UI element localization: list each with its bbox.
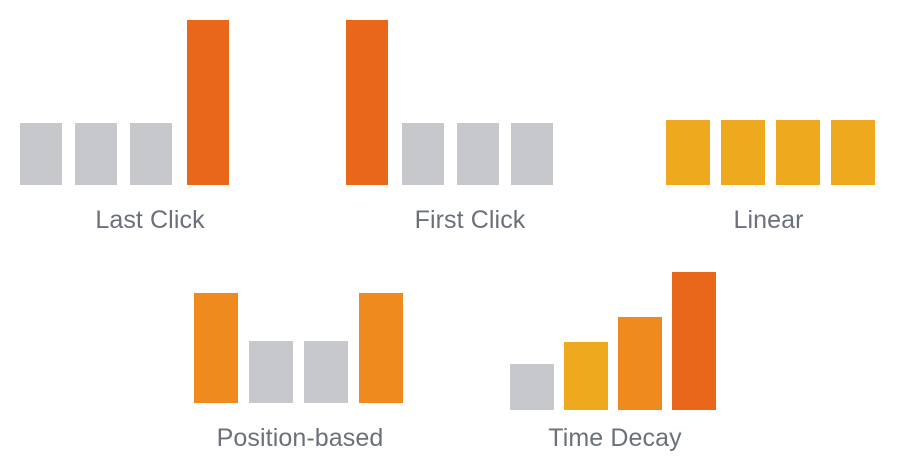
bar [194, 293, 238, 403]
panel-label-first-click: First Click [330, 208, 610, 233]
bar [20, 123, 62, 185]
bar [457, 123, 499, 185]
bar [187, 20, 229, 185]
panel-label-linear: Linear [640, 208, 897, 233]
bar-group-time-decay [490, 240, 740, 410]
bar [304, 341, 348, 403]
bar [402, 123, 444, 185]
bar [564, 342, 608, 410]
bar [666, 120, 710, 185]
bar-group-first-click [330, 0, 610, 185]
bar [721, 120, 765, 185]
bar-group-last-click [0, 0, 300, 185]
bar [831, 120, 875, 185]
attribution-models-figure: Last ClickFirst ClickLinearPosition-base… [0, 0, 897, 476]
bar [618, 317, 662, 410]
bar [776, 120, 820, 185]
bar [510, 364, 554, 410]
bar-group-linear [640, 0, 897, 185]
bar [249, 341, 293, 403]
bar [346, 20, 388, 185]
bar-group-position-based [170, 240, 430, 403]
bar [359, 293, 403, 403]
bar [130, 123, 172, 185]
bar [511, 123, 553, 185]
panel-label-time-decay: Time Decay [490, 426, 740, 451]
bar [672, 272, 716, 410]
bar [75, 123, 117, 185]
panel-label-position-based: Position-based [170, 426, 430, 451]
panel-label-last-click: Last Click [0, 208, 300, 233]
